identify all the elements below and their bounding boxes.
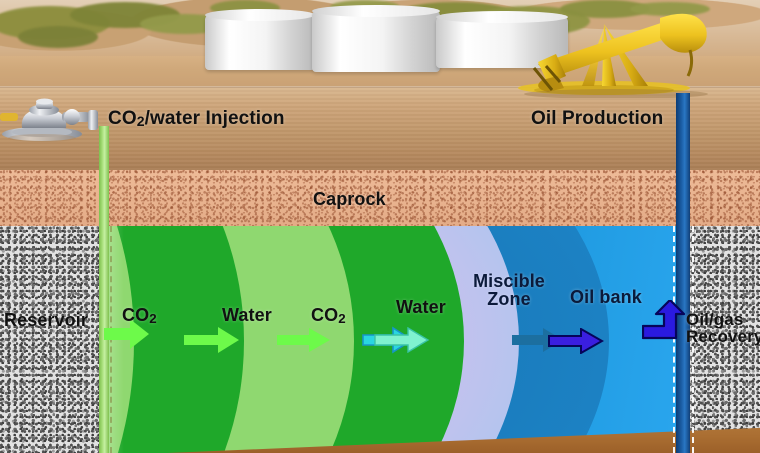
injection-well[interactable]: [99, 126, 109, 453]
label-oil-production: Oil Production: [531, 108, 663, 130]
scrub-vegetation: [18, 26, 98, 48]
arrow-oilbank: [548, 328, 604, 359]
label-zone-co2-2: CO2: [311, 305, 346, 326]
label-zone-co2-1: CO2: [122, 305, 157, 326]
pumpjack-icon: [508, 2, 713, 98]
production-well[interactable]: [676, 93, 690, 453]
label-oil-gas-recovery-line2: Recovery: [686, 327, 760, 346]
eor-diagram: CO2/water Injection Oil Production Capro…: [0, 0, 760, 453]
arrow-water-2: [374, 327, 430, 358]
arrow-co2-1: [184, 326, 240, 359]
label-co2-water-injection: CO2/water Injection: [108, 108, 285, 130]
label-zone-co2-2-sub: 2: [338, 311, 346, 326]
storage-tank: [312, 10, 440, 72]
storage-tank: [205, 14, 315, 70]
label-co2-subscript: 2: [137, 113, 145, 129]
label-zone-oil-bank: Oil bank: [570, 287, 642, 308]
label-co2-water-injection-text: CO: [108, 108, 137, 129]
soil-layer: [0, 88, 760, 172]
label-caprock: Caprock: [313, 189, 386, 210]
label-reservoir: Reservoir: [4, 310, 88, 331]
label-zone-water-2: Water: [396, 297, 446, 318]
label-zone-miscible: Miscible Zone: [466, 272, 552, 309]
label-zone-miscible-line2: Zone: [487, 289, 530, 309]
label-zone-miscible-line1: Miscible: [473, 271, 545, 291]
label-zone-water-1: Water: [222, 305, 272, 326]
label-zone-co2-1-text: CO: [122, 305, 149, 325]
label-zone-co2-2-text: CO: [311, 305, 338, 325]
wellhead-valve-icon[interactable]: [0, 98, 106, 143]
label-oil-gas-recovery: Oil/gas Recovery: [686, 311, 760, 346]
label-co2-water-injection-rest: /water Injection: [145, 108, 285, 129]
label-zone-co2-1-sub: 2: [149, 311, 157, 326]
arrow-water-1: [277, 327, 331, 358]
